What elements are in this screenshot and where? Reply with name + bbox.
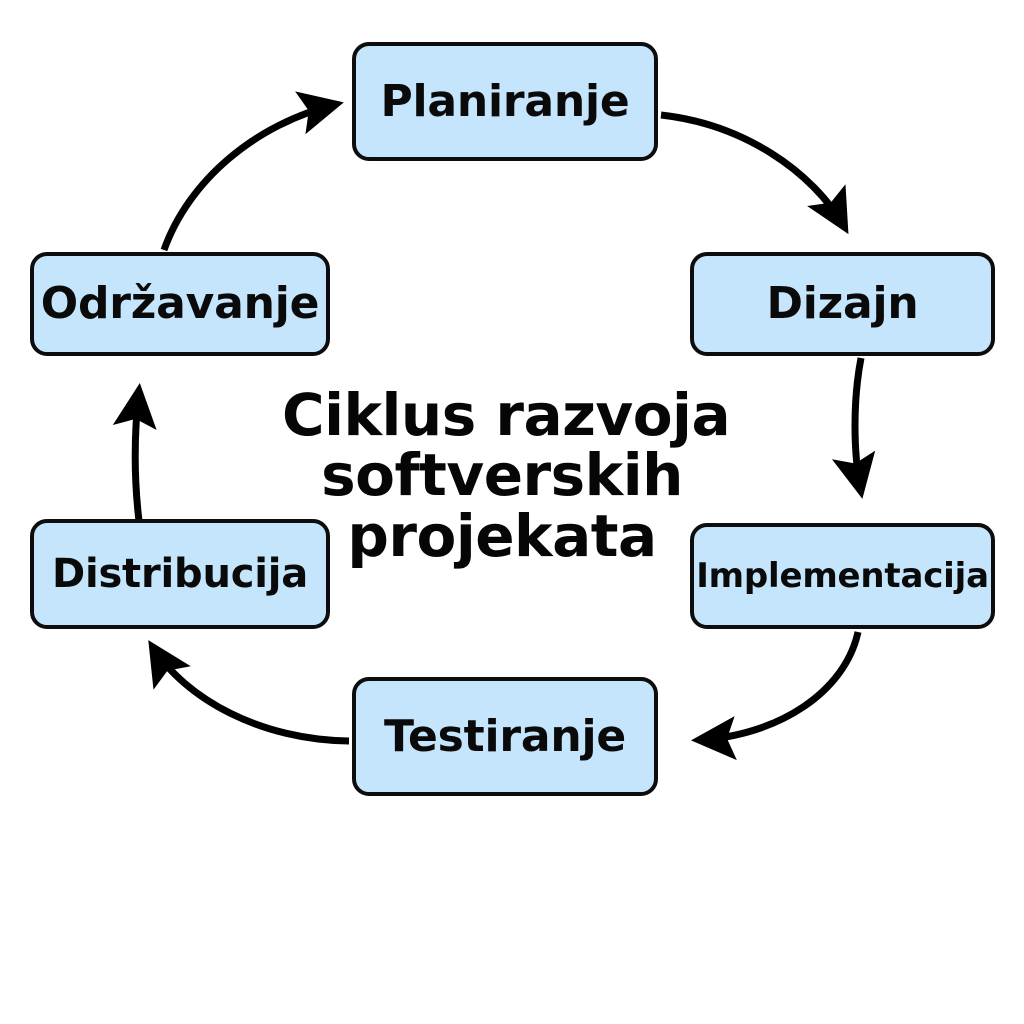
node-dizajn-label: Dizajn	[766, 282, 918, 326]
diagram-canvas: Planiranje Dizajn Implementacija Testira…	[0, 0, 1024, 1024]
edge-implementacija-to-testiranje	[698, 632, 858, 740]
node-implementacija-label: Implementacija	[696, 559, 989, 593]
diagram-center-title: Ciklus razvoja softverskih projekata	[282, 385, 722, 566]
node-implementacija[interactable]: Implementacija	[690, 523, 995, 629]
edge-dizajn-to-implementacija	[855, 358, 861, 492]
node-dizajn[interactable]: Dizajn	[690, 252, 995, 356]
center-title-line-3: projekata	[282, 506, 722, 566]
edge-testiranje-to-distribucija	[152, 646, 349, 741]
edge-distribucija-to-odrzavanje	[135, 390, 139, 521]
node-planiranje-label: Planiranje	[380, 80, 629, 124]
node-odrzavanje[interactable]: Održavanje	[30, 252, 330, 356]
node-distribucija-label: Distribucija	[52, 554, 308, 594]
node-planiranje[interactable]: Planiranje	[352, 42, 658, 161]
center-title-line-2: softverskih	[282, 445, 722, 505]
node-testiranje-label: Testiranje	[384, 715, 626, 759]
edge-odrzavanje-to-planiranje	[164, 104, 337, 250]
edge-planiranje-to-dizajn	[661, 115, 845, 228]
node-odrzavanje-label: Održavanje	[41, 282, 320, 326]
node-testiranje[interactable]: Testiranje	[352, 677, 658, 796]
center-title-line-1: Ciklus razvoja	[282, 385, 722, 445]
